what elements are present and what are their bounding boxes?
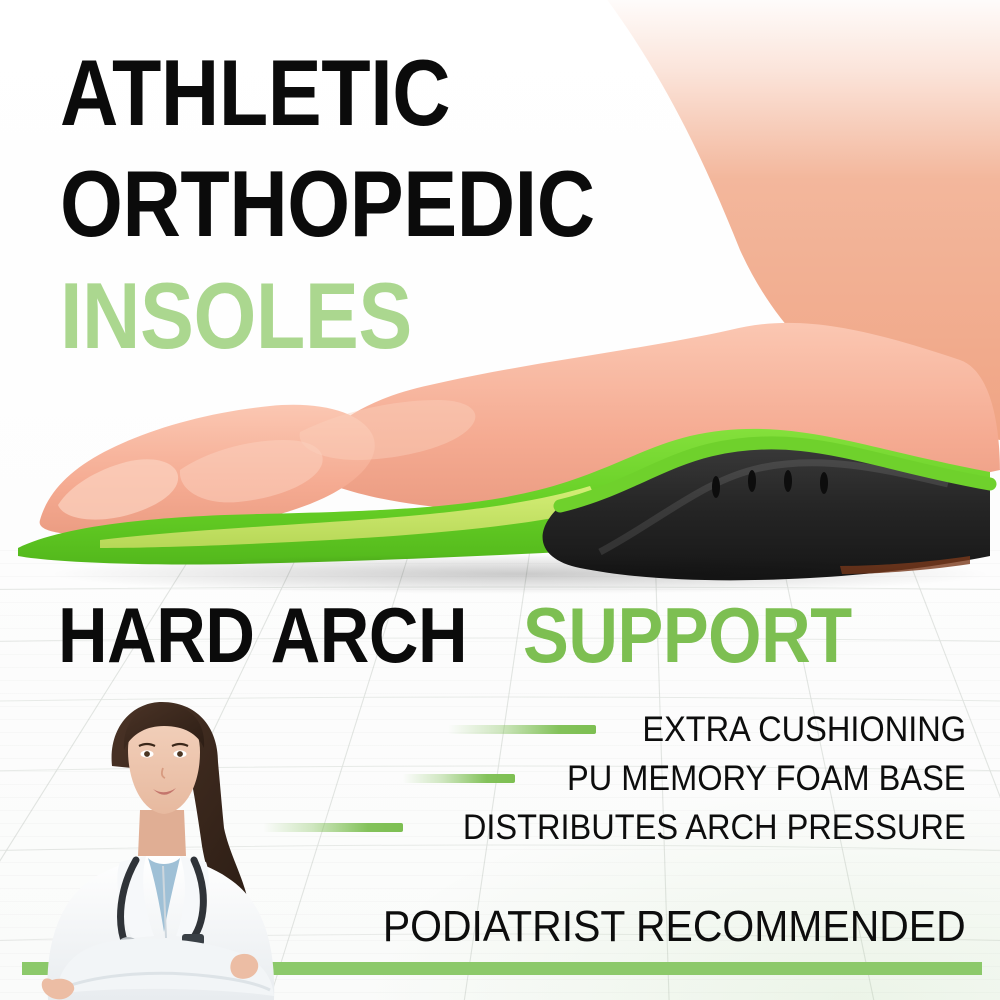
subheadline-dark-part: HARD ARCH [58,596,467,674]
feature-item: PU MEMORY FOAM BASE [403,761,966,796]
headline-block: ATHLETIC ORTHOPEDIC INSOLES [60,48,682,360]
feature-label: PU MEMORY FOAM BASE [567,761,966,796]
product-ad-banner: ATHLETIC ORTHOPEDIC INSOLES HARD ARCH SU… [0,0,1000,1000]
feature-list: EXTRA CUSHIONING PU MEMORY FOAM BASE DIS… [263,712,966,845]
subheadline-green-part: SUPPORT [523,596,852,674]
headline-line-1: ATHLETIC [60,48,595,137]
feature-label: DISTRIBUTES ARCH PRESSURE [463,810,966,845]
feature-dash-icon [448,725,596,734]
feature-dash-icon [403,774,515,783]
headline-line-3-insoles: INSOLES [60,271,595,360]
endorsement-text: PODIATRIST RECOMMENDED [383,905,966,949]
podiatrist-photo [8,688,308,1000]
feature-label: EXTRA CUSHIONING [642,712,966,747]
headline-line-2: ORTHOPEDIC [60,159,595,248]
feature-item: EXTRA CUSHIONING [448,712,966,747]
feature-item: DISTRIBUTES ARCH PRESSURE [263,810,966,845]
subheadline: HARD ARCH SUPPORT [58,596,896,674]
